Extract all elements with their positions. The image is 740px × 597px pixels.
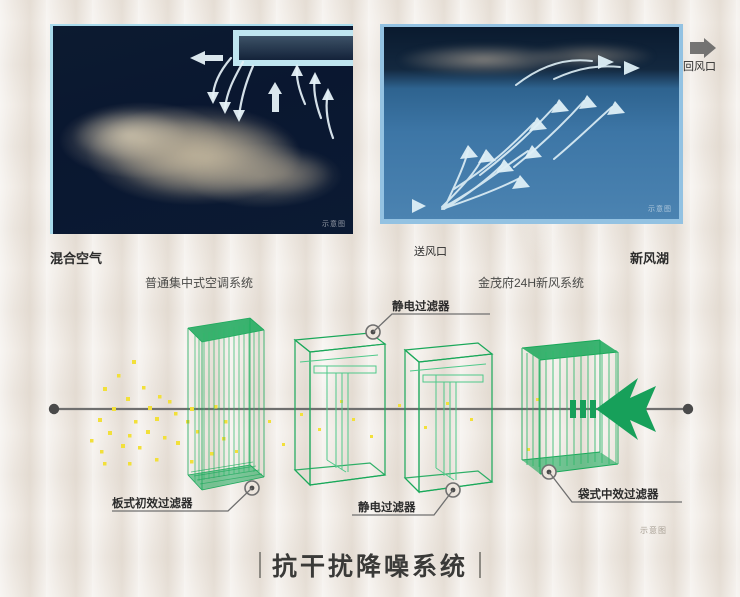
panel-fresh-air-system: 示意图 [380,24,683,224]
supply-air-pipe-right [386,219,398,224]
clean-air-arrow-icon [570,378,656,440]
stage-bag-medium-filter [522,340,682,502]
particle-cloud [90,360,228,466]
label-electrostatic-1: 静电过滤器 [392,300,450,313]
stage-electrostatic-2 [405,343,492,492]
filter-train-diagram: 板式初效过滤器 [0,300,740,550]
panel-right-watermark: 示意图 [648,204,672,214]
section-heading: 抗干扰降噪系统 [0,547,740,583]
label-mixed-air: 混合空气 [50,248,102,267]
heading-bar-right [479,552,481,578]
caption-conventional-hvac: 普通集中式空调系统 [145,274,253,291]
panel-conventional-hvac: 示意图 [50,24,353,234]
return-air-arrow-icon [690,38,732,58]
label-fresh-air-lake: 新风湖 [630,248,669,267]
flow-end-dot [683,404,693,414]
airflow-arrows-right [384,27,679,219]
filter-train-svg: 板式初效过滤器 [0,300,740,550]
callout-electrostatic-1 [366,314,490,339]
label-electrostatic-2: 静电过滤器 [358,500,416,514]
label-return-air-outlet: 回风口 [683,58,716,74]
label-bag-medium-filter: 袋式中效过滤器 [577,487,659,501]
flow-start-dot [49,404,59,414]
heading-text: 抗干扰降噪系统 [272,547,468,583]
label-supply-air-inlet: 送风口 [414,243,447,259]
heading-bar-left [259,552,261,578]
label-plate-prefilter: 板式初效过滤器 [112,496,193,510]
page-root: 示意图 混合空气 普通集中式空调系统 [0,0,740,597]
diagram-watermark: 示意图 [640,525,667,535]
panel-left-watermark: 示意图 [322,219,346,229]
stage-plate-prefilter [112,318,264,511]
airflow-arrows-left [53,26,353,234]
caption-fresh-air-system: 金茂府24H新风系统 [478,274,584,291]
